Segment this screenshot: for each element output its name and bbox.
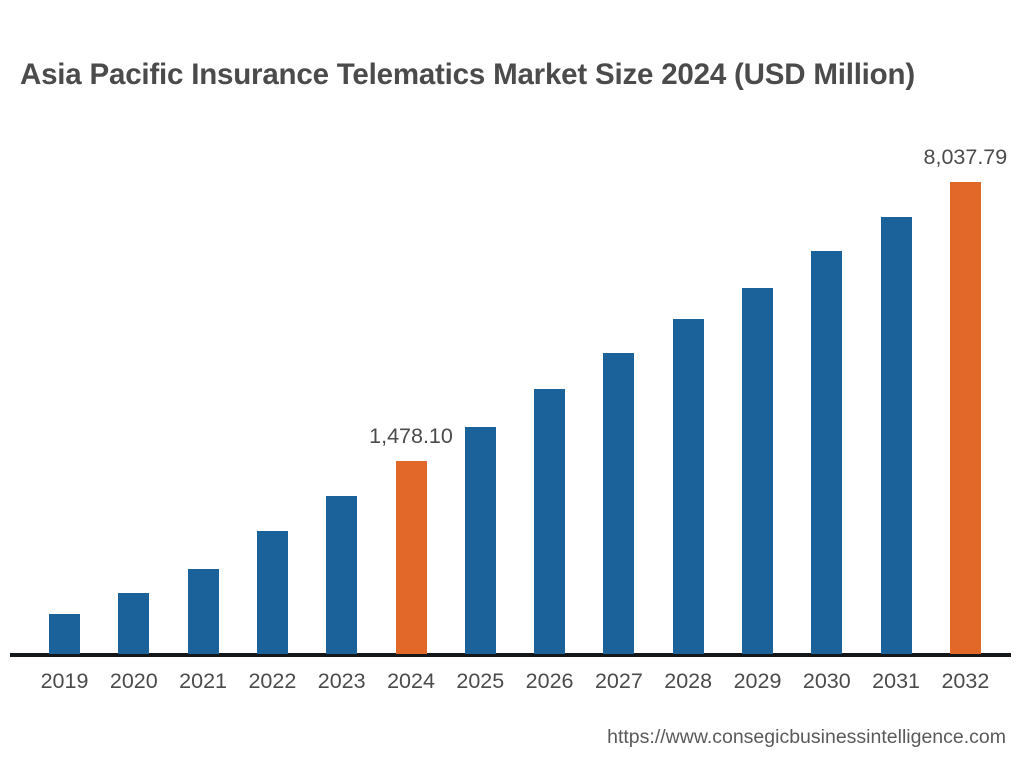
data-label-2032: 8,037.79 (890, 145, 1024, 169)
x-tick-2019: 2019 (25, 668, 105, 694)
x-axis-line (10, 653, 1011, 657)
x-tick-2028: 2028 (648, 668, 728, 694)
x-tick-2020: 2020 (94, 668, 174, 694)
bar-2031 (881, 217, 912, 654)
x-tick-2032: 2032 (925, 668, 1005, 694)
bar-2028 (673, 319, 704, 654)
x-tick-2031: 2031 (856, 668, 936, 694)
x-tick-2021: 2021 (163, 668, 243, 694)
bar-2030 (811, 251, 842, 654)
plot-area: 1,478.108,037.79 (0, 0, 1024, 655)
bar-2020 (118, 593, 149, 654)
data-label-2024: 1,478.10 (336, 424, 486, 448)
bar-2021 (188, 569, 219, 654)
x-tick-2030: 2030 (787, 668, 867, 694)
bar-2032 (950, 182, 981, 654)
x-tick-2022: 2022 (232, 668, 312, 694)
bar-2026 (534, 389, 565, 654)
bar-2025 (465, 427, 496, 654)
source-url: https://www.consegicbusinessintelligence… (607, 725, 1006, 749)
x-tick-2029: 2029 (718, 668, 798, 694)
x-tick-2025: 2025 (440, 668, 520, 694)
x-tick-2026: 2026 (510, 668, 590, 694)
x-tick-2027: 2027 (579, 668, 659, 694)
bar-2029 (742, 288, 773, 654)
bar-2024 (396, 461, 427, 654)
x-tick-2024: 2024 (371, 668, 451, 694)
bar-2019 (49, 614, 80, 654)
x-tick-2023: 2023 (302, 668, 382, 694)
bar-2027 (603, 353, 634, 654)
bar-2023 (326, 496, 357, 654)
bar-2022 (257, 531, 288, 654)
chart-container: Asia Pacific Insurance Telematics Market… (0, 0, 1024, 768)
